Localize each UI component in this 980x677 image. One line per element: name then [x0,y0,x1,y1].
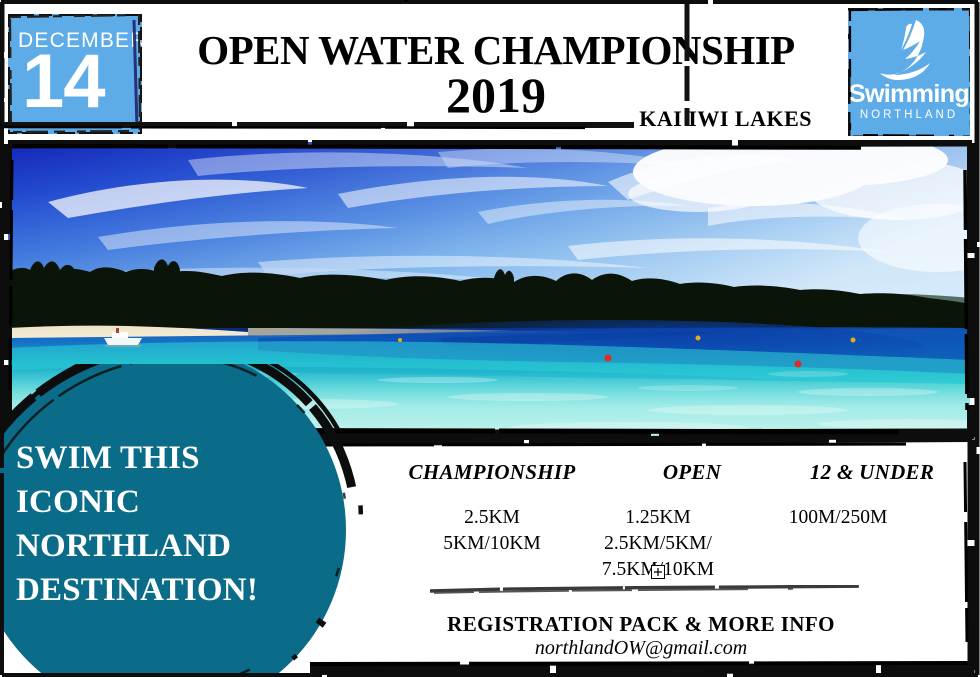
distance-item: 1.25KM [578,505,738,531]
distance-item: 5KM/10KM [372,531,612,557]
category-heading-championship: CHAMPIONSHIP [372,460,612,485]
event-date-badge: DECEMBER 14 [8,14,142,134]
registration-email[interactable]: northlandOW@gmail.com [312,638,970,658]
buoy-marker [696,336,701,341]
category-heading-open: OPEN [612,460,772,485]
page-title: OPEN WATER CHAMPIONSHIP [152,30,840,71]
buoy-marker [851,338,856,343]
registration-heading: REGISTRATION PACK & MORE INFO [312,614,970,635]
poster-canvas: DECEMBER 14 OPEN WATER CHAMPIONSHIP 2019… [0,0,980,677]
distances-12-and-under: 100M/250M [738,505,938,531]
event-category-headings: CHAMPIONSHIP OPEN 12 & UNDER [312,460,962,490]
buoy-marker [795,361,802,368]
swimming-northland-logo: Swimming NORTHLAND [848,8,970,136]
wave-swoosh-icon [872,18,948,80]
badge-line: NORTHLAND [16,524,346,568]
buoy-marker [398,338,402,342]
distance-item: 2.5KM [372,505,612,531]
section-divider [430,585,880,595]
distances-championship: 2.5KM 5KM/10KM [372,505,612,557]
badge-line: ICONIC [16,480,346,524]
poster-header: DECEMBER 14 OPEN WATER CHAMPIONSHIP 2019… [0,0,980,140]
logo-wordmark: Swimming [848,82,970,107]
move-crosshair-icon[interactable] [651,565,665,579]
badge-line: SWIM THIS [16,436,346,480]
logo-subtext: NORTHLAND [848,110,970,122]
event-location: KAI IWI LAKES [639,108,812,130]
event-day: 14 [22,44,105,120]
buoy-marker [605,355,612,362]
distance-item: 100M/250M [738,505,938,531]
badge-text: SWIM THIS ICONIC NORTHLAND DESTINATION! [16,436,346,612]
badge-line: DESTINATION! [16,568,346,612]
category-heading-12-and-under: 12 & UNDER [772,460,972,485]
distance-item: 2.5KM/5KM/ [578,531,738,557]
event-title-card: OPEN WATER CHAMPIONSHIP 2019 KAI IWI LAK… [152,8,840,134]
